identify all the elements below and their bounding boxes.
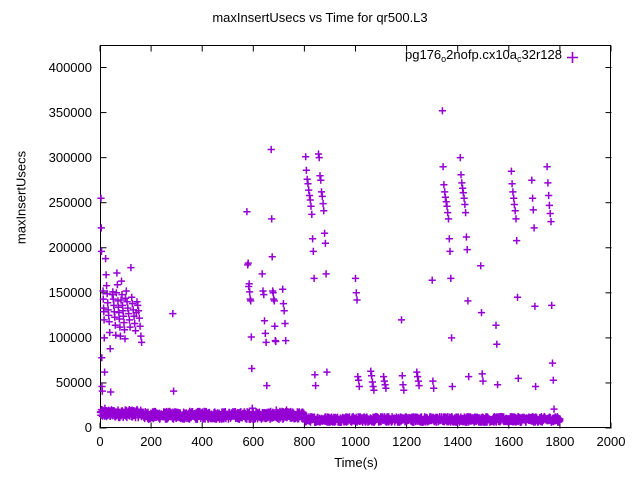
y-tick-label: 150000 xyxy=(22,285,92,300)
y-tick-label: 200000 xyxy=(22,240,92,255)
y-tick-label: 0 xyxy=(22,420,92,435)
y-tick-label: 350000 xyxy=(22,105,92,120)
y-tick-label: 250000 xyxy=(22,195,92,210)
plot-canvas xyxy=(0,0,640,480)
plot-frame xyxy=(101,46,611,428)
x-tick-label: 2000 xyxy=(581,434,640,449)
y-tick-label: 300000 xyxy=(22,150,92,165)
series-baseline-markers xyxy=(97,406,564,426)
chart-container: maxInsertUsecs vs Time for qr500.L3 pg17… xyxy=(0,0,640,480)
axis-tick-marks xyxy=(100,46,612,429)
series-markers xyxy=(97,107,563,423)
y-tick-label: 400000 xyxy=(22,60,92,75)
y-tick-label: 100000 xyxy=(22,330,92,345)
scatter-data-points xyxy=(97,107,564,426)
y-tick-label: 50000 xyxy=(22,375,92,390)
